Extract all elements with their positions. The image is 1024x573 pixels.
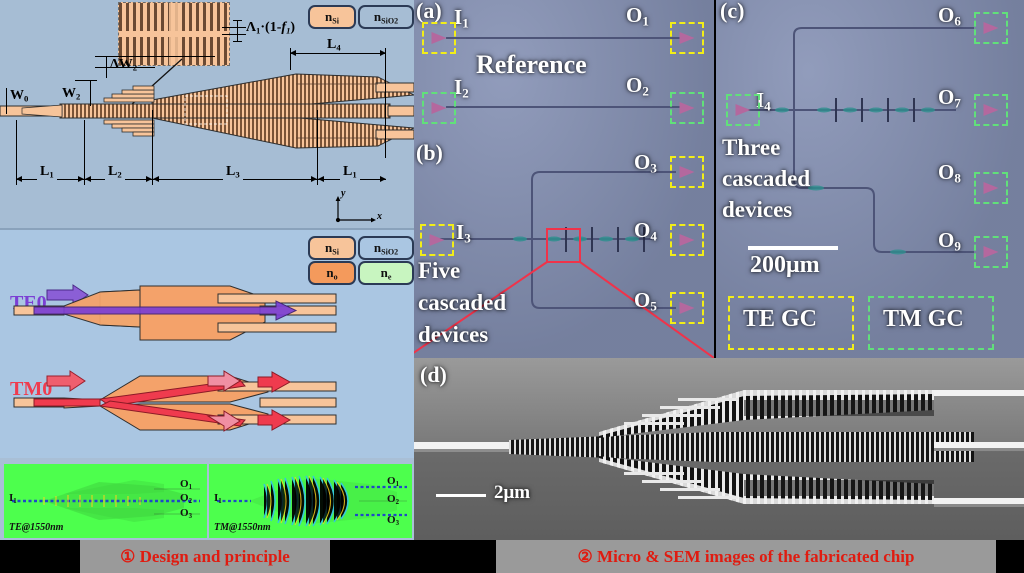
subpanel-mode-principle: nSi nSiO2 no ne TE0 xyxy=(0,230,414,458)
coupler-horn-icon xyxy=(432,102,447,114)
label-delta-W2: ΔW2 xyxy=(110,57,137,73)
legend-tm-gc-label: TM GC xyxy=(883,306,964,333)
fdtd-te-output-1: O1 xyxy=(180,478,192,491)
label-W0: W0 xyxy=(10,88,28,104)
fdtd-te-output-3: O3 xyxy=(180,507,192,520)
microscope-image-c: (c) I4 O6 O7 O8 O9 Three ca xyxy=(716,0,1024,358)
caption-panel-2: ② Micro & SEM images of the fabricated c… xyxy=(496,540,996,573)
panel-b-title-line-2: cascaded xyxy=(418,290,506,316)
coupler-horn-icon xyxy=(984,22,999,34)
coupler-horn-icon xyxy=(984,246,999,258)
legend-n-sio2: nSiO2 xyxy=(358,5,414,29)
panel-micro-and-sem-images: (a) (b) Reference I1 O1 I2 O2 xyxy=(414,0,1024,540)
grating-coupler-O3[interactable] xyxy=(670,156,704,188)
grating-coupler-O8[interactable] xyxy=(974,172,1008,204)
grating-pitch-bracket xyxy=(233,20,243,42)
fdtd-tm-caption: TM@1550nm xyxy=(214,522,271,533)
caption-bar: ① Design and principle ② Micro & SEM ima… xyxy=(0,540,1024,573)
coupler-horn-icon xyxy=(432,32,447,44)
port-label-O3: O3 xyxy=(634,150,657,177)
W2-arrow xyxy=(90,80,91,106)
legend-mode-n-sio2: nSiO2 xyxy=(358,236,414,260)
fdtd-tm-panel: I1 O1 O2 O3 TM@1550nm xyxy=(209,464,412,538)
legend-mode-n-si: nSi xyxy=(308,236,356,260)
legend-te-gc-label: TE GC xyxy=(743,306,817,333)
panel-b-title-line-3: devices xyxy=(418,322,488,348)
coupler-horn-icon xyxy=(680,32,695,44)
label-W2: W2 xyxy=(62,86,80,102)
subpanel-device-schematic: nSi nSiO2 xyxy=(0,0,414,230)
dim-L1-right: L1 xyxy=(318,170,386,190)
panel-c-title-line-1: Three xyxy=(722,135,780,161)
scale-bar-2um-label: 2μm xyxy=(494,482,530,504)
scale-bar-200um-line xyxy=(748,246,838,250)
legend-n-si: nSi xyxy=(308,5,356,29)
figure-root: nSi nSiO2 xyxy=(0,0,1024,573)
panel-d-tag: (d) xyxy=(420,362,447,388)
panel-c-title-line-3: devices xyxy=(722,197,792,223)
grating-coupler-O9[interactable] xyxy=(974,236,1008,268)
grating-coupler-I4[interactable] xyxy=(726,94,760,126)
coupler-horn-icon xyxy=(680,166,695,178)
legend-te-gc: TE GC xyxy=(728,296,854,350)
port-label-O7: O7 xyxy=(938,85,961,112)
coupler-horn-icon xyxy=(736,104,751,116)
port-label-O5: O5 xyxy=(634,288,657,315)
W0-arrow xyxy=(6,88,7,114)
fdtd-te-output-2: O2 xyxy=(180,492,192,505)
grating-coupler-O7[interactable] xyxy=(974,94,1008,126)
microscope-image-ab: (a) (b) Reference I1 O1 I2 O2 xyxy=(414,0,714,358)
dim-L2: L2 xyxy=(85,170,152,190)
fdtd-te-panel: I1 O1 O2 O3 TE@1550nm xyxy=(4,464,207,538)
coupler-horn-icon xyxy=(680,234,695,246)
port-label-O9: O9 xyxy=(938,228,961,255)
port-label-O4: O4 xyxy=(634,218,657,245)
grating-coupler-O4[interactable] xyxy=(670,224,704,256)
coupler-horn-icon xyxy=(680,302,695,314)
fdtd-tm-input-label: I1 xyxy=(214,492,222,505)
grating-coupler-I2[interactable] xyxy=(422,92,456,124)
port-label-O8: O8 xyxy=(938,160,961,187)
te0-propagation-diagram xyxy=(0,282,380,360)
grating-coupler-O2[interactable] xyxy=(670,92,704,124)
dim-L1-left: L1 xyxy=(16,170,84,190)
port-label-I2: I2 xyxy=(454,75,469,102)
subpanel-fdtd-simulations: I1 O1 O2 O3 TE@1550nm xyxy=(0,462,414,540)
grating-coupler-I1[interactable] xyxy=(422,22,456,54)
port-label-I1: I1 xyxy=(454,5,469,32)
axis-y-label: y xyxy=(341,188,345,199)
swg-taper-drawing xyxy=(0,58,414,164)
sem-image-d: (d) 2μm xyxy=(414,358,1024,540)
port-label-I3: I3 xyxy=(456,220,471,247)
tm0-propagation-diagram xyxy=(0,368,380,458)
scale-bar-200um-label: 200μm xyxy=(750,252,820,279)
grating-coupler-O6[interactable] xyxy=(974,12,1008,44)
dim-L3: L3 xyxy=(153,170,317,190)
panel-design-and-principle: nSi nSiO2 xyxy=(0,0,414,540)
axis-x-label: x xyxy=(377,211,382,222)
grating-coupler-O1[interactable] xyxy=(670,22,704,54)
port-label-O2: O2 xyxy=(626,73,649,100)
dim-L4: L4 xyxy=(290,44,386,62)
label-lambda1-1-minus-f1: Λ1·(1-f1) xyxy=(246,20,295,36)
grating-coupler-I3[interactable] xyxy=(420,224,454,256)
grating-coupler-O5[interactable] xyxy=(670,292,704,324)
fdtd-tm-output-2: O2 xyxy=(387,493,399,506)
legend-tm-gc: TM GC xyxy=(868,296,994,350)
panel-b-tag: (b) xyxy=(416,140,443,166)
fdtd-tm-output-1: O1 xyxy=(387,475,399,488)
coupler-horn-icon xyxy=(680,102,695,114)
panel-a-title: Reference xyxy=(476,50,587,80)
panel-c-title-line-2: cascaded xyxy=(722,166,810,192)
coupler-horn-icon xyxy=(430,234,445,246)
axis-indicator: y x xyxy=(330,192,390,226)
port-label-O1: O1 xyxy=(626,3,649,30)
fdtd-te-caption: TE@1550nm xyxy=(9,522,63,533)
coupler-horn-icon xyxy=(984,104,999,116)
coupler-horn-icon xyxy=(984,182,999,194)
port-label-O6: O6 xyxy=(938,3,961,30)
panel-a-tag: (a) xyxy=(416,0,442,24)
fdtd-te-input-label: I1 xyxy=(9,492,17,505)
fdtd-tm-output-3: O3 xyxy=(387,514,399,527)
panel-c-tag: (c) xyxy=(720,0,744,24)
panel-b-title-line-1: Five xyxy=(418,258,460,284)
scale-bar-2um-line xyxy=(436,494,486,497)
caption-panel-1: ① Design and principle xyxy=(80,540,330,573)
